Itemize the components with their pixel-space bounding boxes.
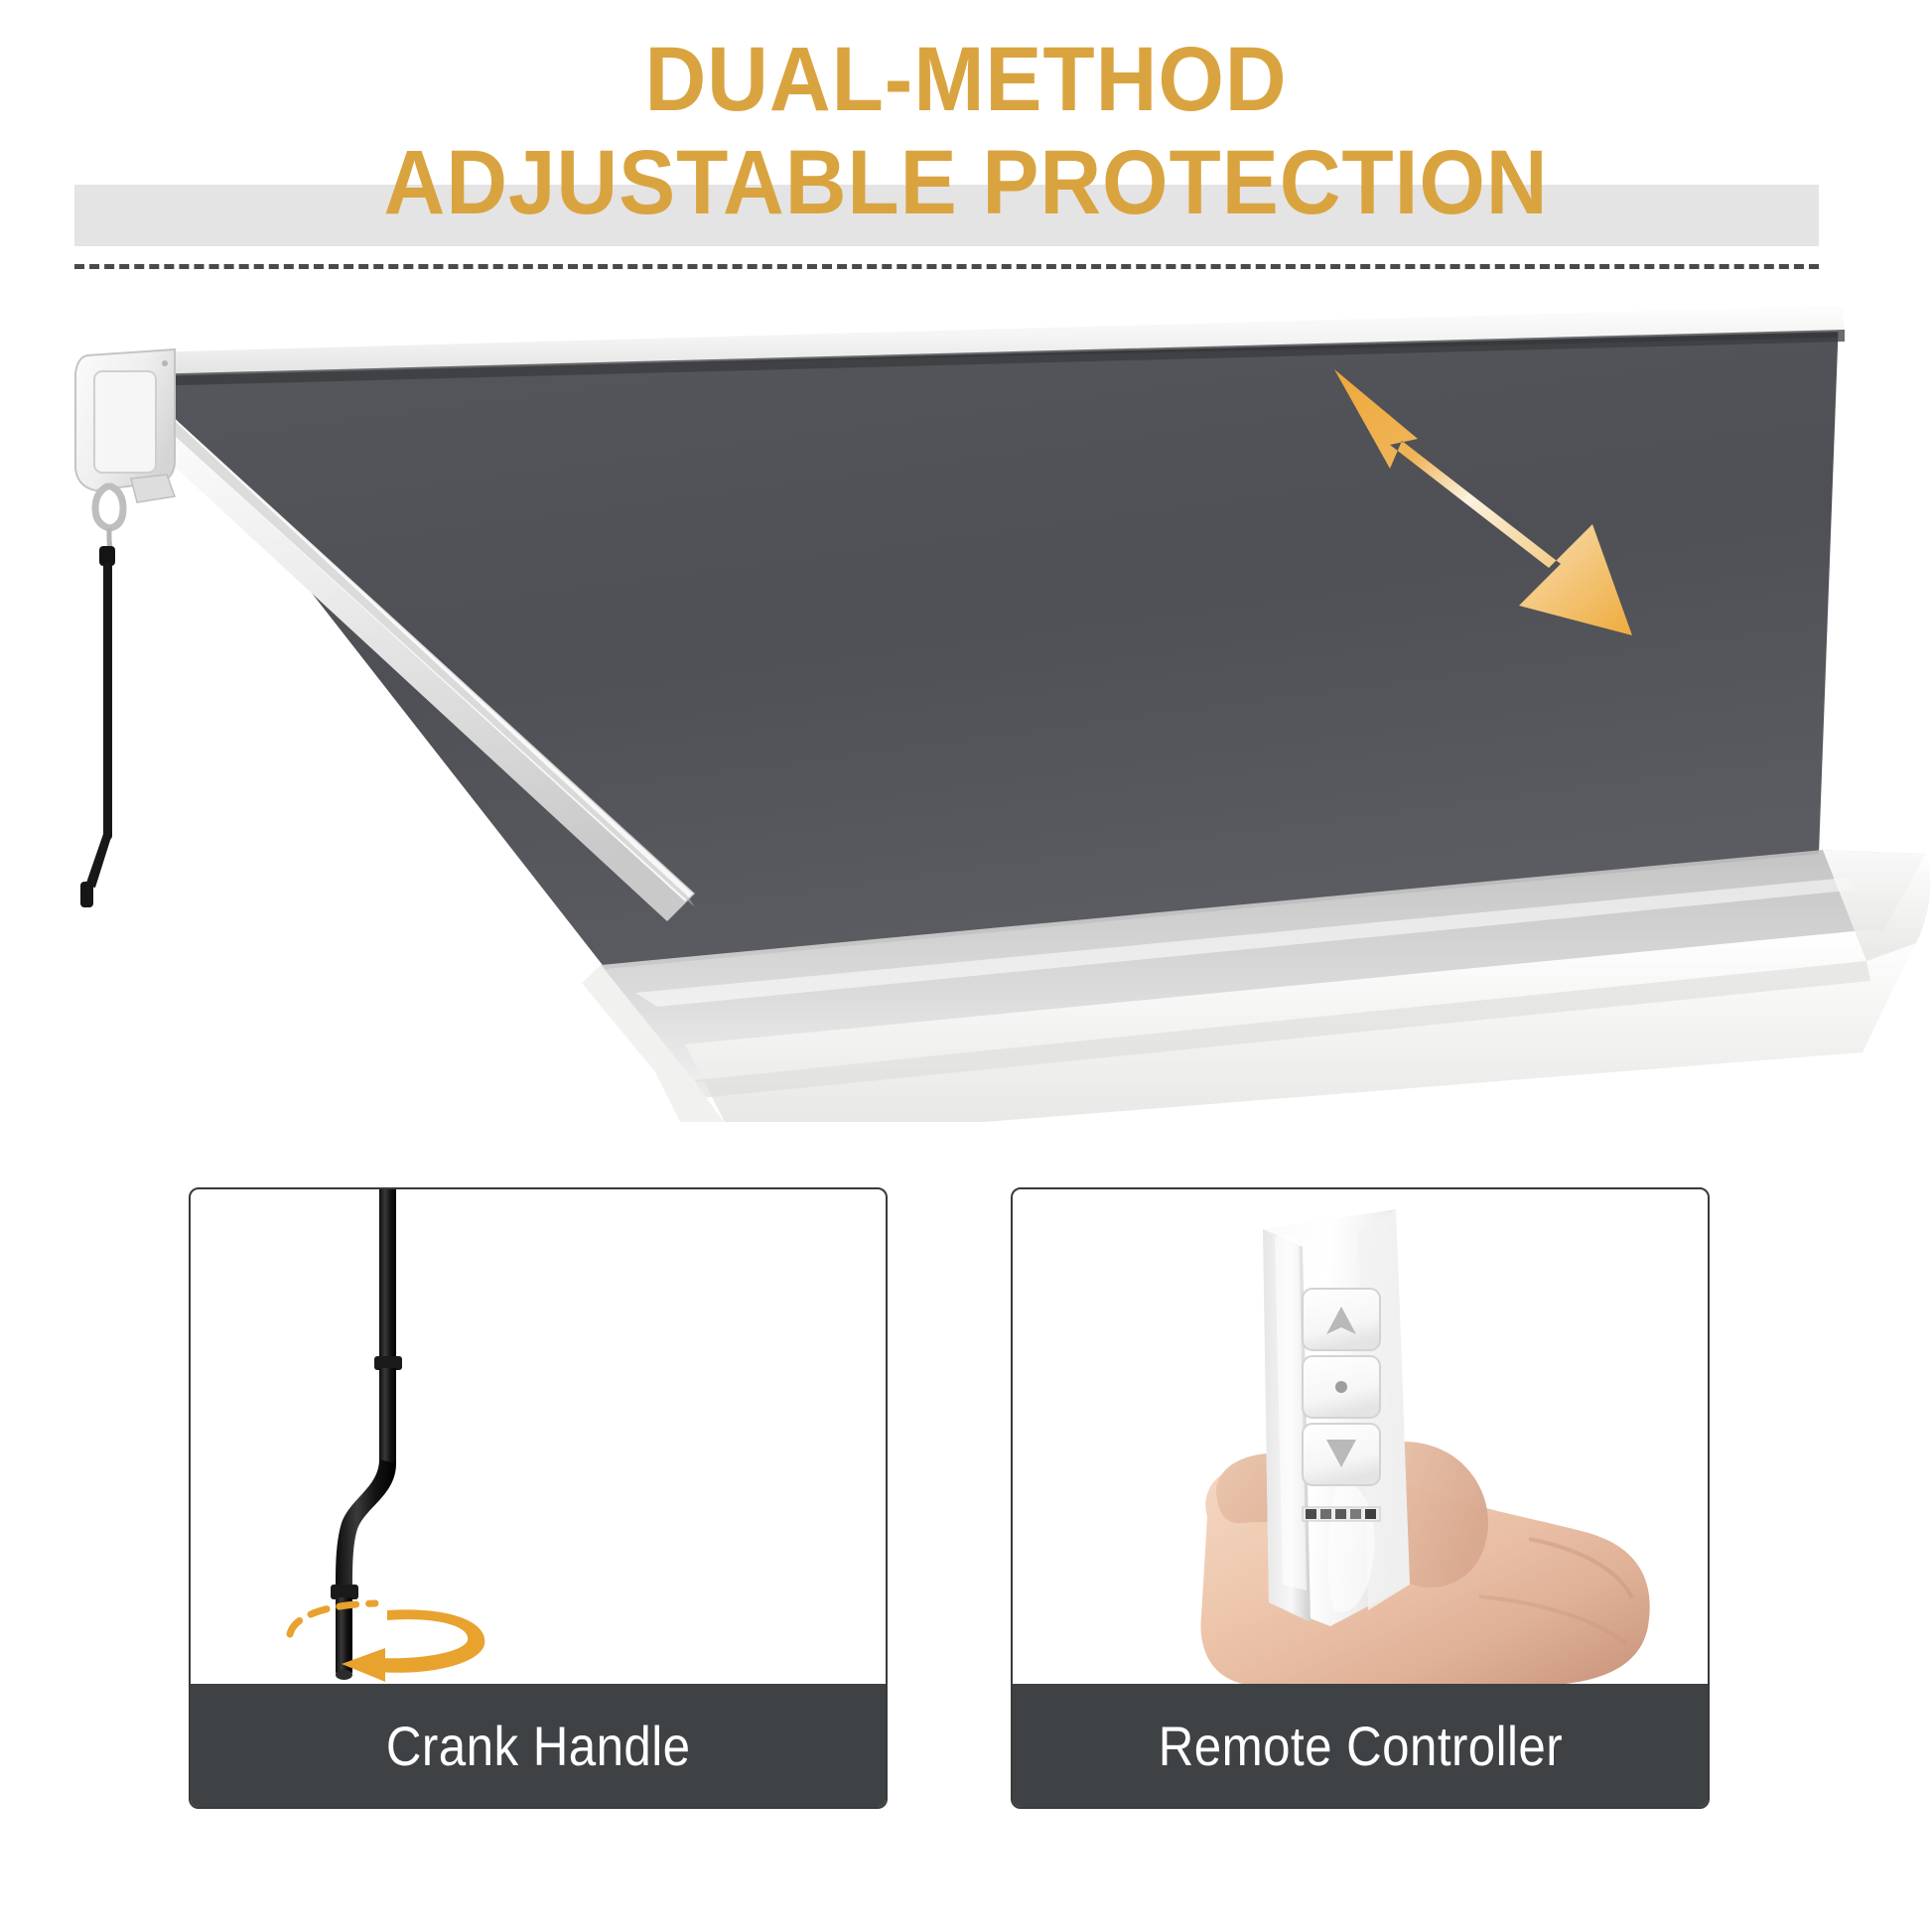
crank-handle-caption-text: Crank Handle [386,1714,691,1778]
remote-controller-caption: Remote Controller [1013,1684,1708,1807]
crank-handle-caption: Crank Handle [191,1684,886,1807]
awning-end-cap [75,349,175,502]
remote-stop-button[interactable] [1303,1356,1380,1418]
title-line-2: ADJUSTABLE PROTECTION [68,131,1864,234]
hero-product-illustration [0,298,1932,1122]
crank-handle-figure [191,1189,886,1684]
handheld-remote-icon [1263,1209,1410,1626]
remote-down-button[interactable] [1303,1424,1380,1485]
feature-card-crank-handle[interactable]: Crank Handle [189,1187,888,1809]
dashed-divider [74,264,1819,269]
remote-controller-figure [1013,1189,1708,1684]
remote-up-button[interactable] [1303,1289,1380,1350]
rotation-arrow-icon [290,1603,484,1682]
title-line-1: DUAL-METHOD [68,28,1864,131]
feature-card-remote-controller[interactable]: Remote Controller [1011,1187,1710,1809]
remote-controller-caption-text: Remote Controller [1158,1714,1562,1778]
crank-rod [80,486,123,907]
page-title: DUAL-METHOD ADJUSTABLE PROTECTION [0,28,1932,234]
remote-led-strip [1303,1507,1380,1521]
